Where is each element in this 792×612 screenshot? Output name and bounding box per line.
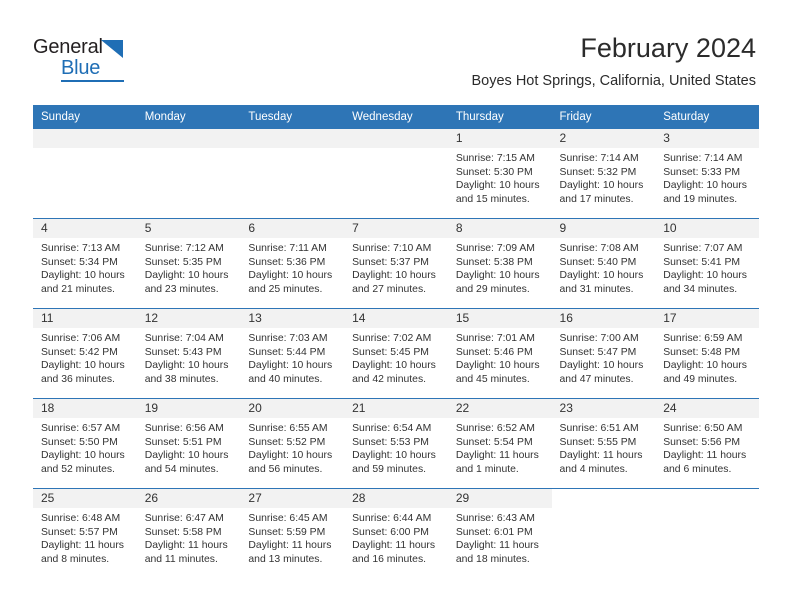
daylight-text-line2: and 1 minute. (456, 463, 546, 477)
day-details: Sunrise: 7:12 AMSunset: 5:35 PMDaylight:… (137, 238, 241, 296)
sunset-text: Sunset: 5:53 PM (352, 436, 442, 450)
daylight-text-line1: Daylight: 10 hours (41, 449, 131, 463)
calendar-day-cell[interactable]: 15Sunrise: 7:01 AMSunset: 5:46 PMDayligh… (448, 309, 552, 399)
day-number: 1 (448, 129, 552, 148)
day-number: 19 (137, 399, 241, 418)
daylight-text-line2: and 52 minutes. (41, 463, 131, 477)
weekday-header-monday: Monday (137, 105, 241, 129)
day-cell-inner: 9Sunrise: 7:08 AMSunset: 5:40 PMDaylight… (552, 219, 656, 308)
calendar-week-row: 1Sunrise: 7:15 AMSunset: 5:30 PMDaylight… (33, 129, 759, 219)
calendar-day-cell[interactable]: 12Sunrise: 7:04 AMSunset: 5:43 PMDayligh… (137, 309, 241, 399)
day-details: Sunrise: 6:43 AMSunset: 6:01 PMDaylight:… (448, 508, 552, 566)
daylight-text-line2: and 31 minutes. (560, 283, 650, 297)
sunset-text: Sunset: 5:37 PM (352, 256, 442, 270)
sunset-text: Sunset: 5:54 PM (456, 436, 546, 450)
day-details: Sunrise: 6:50 AMSunset: 5:56 PMDaylight:… (655, 418, 759, 476)
daylight-text-line1: Daylight: 10 hours (352, 449, 442, 463)
weekday-header-sunday: Sunday (33, 105, 137, 129)
day-number: 5 (137, 219, 241, 238)
sunset-text: Sunset: 6:00 PM (352, 526, 442, 540)
day-number: 28 (344, 489, 448, 508)
daylight-text-line1: Daylight: 10 hours (352, 269, 442, 283)
daylight-text-line2: and 36 minutes. (41, 373, 131, 387)
sunset-text: Sunset: 5:38 PM (456, 256, 546, 270)
sunset-text: Sunset: 5:46 PM (456, 346, 546, 360)
calendar-day-cell[interactable]: 10Sunrise: 7:07 AMSunset: 5:41 PMDayligh… (655, 219, 759, 309)
day-number: 2 (552, 129, 656, 148)
daylight-text-line2: and 6 minutes. (663, 463, 753, 477)
daylight-text-line1: Daylight: 10 hours (456, 359, 546, 373)
day-cell-inner: 26Sunrise: 6:47 AMSunset: 5:58 PMDayligh… (137, 489, 241, 578)
daylight-text-line2: and 56 minutes. (248, 463, 338, 477)
daylight-text-line2: and 38 minutes. (145, 373, 235, 387)
day-details: Sunrise: 7:09 AMSunset: 5:38 PMDaylight:… (448, 238, 552, 296)
daylight-text-line1: Daylight: 10 hours (145, 269, 235, 283)
sunrise-text: Sunrise: 6:45 AM (248, 512, 338, 526)
day-number: 6 (240, 219, 344, 238)
sunrise-text: Sunrise: 6:59 AM (663, 332, 753, 346)
calendar-grid: Sunday Monday Tuesday Wednesday Thursday… (33, 105, 759, 578)
sunrise-text: Sunrise: 7:09 AM (456, 242, 546, 256)
sunset-text: Sunset: 5:33 PM (663, 166, 753, 180)
day-details: Sunrise: 6:52 AMSunset: 5:54 PMDaylight:… (448, 418, 552, 476)
daylight-text-line1: Daylight: 10 hours (145, 359, 235, 373)
day-number: 8 (448, 219, 552, 238)
sunset-text: Sunset: 5:47 PM (560, 346, 650, 360)
daylight-text-line1: Daylight: 10 hours (41, 359, 131, 373)
sunset-text: Sunset: 5:32 PM (560, 166, 650, 180)
daylight-text-line1: Daylight: 11 hours (560, 449, 650, 463)
calendar-day-cell[interactable]: 27Sunrise: 6:45 AMSunset: 5:59 PMDayligh… (240, 489, 344, 579)
daylight-text-line2: and 59 minutes. (352, 463, 442, 477)
daylight-text-line2: and 29 minutes. (456, 283, 546, 297)
day-number: 9 (552, 219, 656, 238)
calendar-week-row: 25Sunrise: 6:48 AMSunset: 5:57 PMDayligh… (33, 489, 759, 579)
day-cell-inner: 10Sunrise: 7:07 AMSunset: 5:41 PMDayligh… (655, 219, 759, 308)
sunset-text: Sunset: 5:48 PM (663, 346, 753, 360)
daylight-text-line2: and 11 minutes. (145, 553, 235, 567)
day-details: Sunrise: 7:01 AMSunset: 5:46 PMDaylight:… (448, 328, 552, 386)
day-cell-inner (655, 489, 759, 578)
sunrise-text: Sunrise: 6:43 AM (456, 512, 546, 526)
day-number: 20 (240, 399, 344, 418)
day-cell-inner (552, 489, 656, 578)
day-cell-inner: 15Sunrise: 7:01 AMSunset: 5:46 PMDayligh… (448, 309, 552, 398)
day-details: Sunrise: 7:02 AMSunset: 5:45 PMDaylight:… (344, 328, 448, 386)
sunset-text: Sunset: 5:44 PM (248, 346, 338, 360)
sunrise-text: Sunrise: 6:50 AM (663, 422, 753, 436)
sunrise-text: Sunrise: 6:55 AM (248, 422, 338, 436)
day-number: 15 (448, 309, 552, 328)
day-number: 11 (33, 309, 137, 328)
sunrise-text: Sunrise: 7:15 AM (456, 152, 546, 166)
calendar-day-cell[interactable]: 5Sunrise: 7:12 AMSunset: 5:35 PMDaylight… (137, 219, 241, 309)
calendar-page: General Blue February 2024 Boyes Hot Spr… (0, 0, 792, 612)
day-details: Sunrise: 7:10 AMSunset: 5:37 PMDaylight:… (344, 238, 448, 296)
sunset-text: Sunset: 5:35 PM (145, 256, 235, 270)
calendar-day-cell[interactable]: 16Sunrise: 7:00 AMSunset: 5:47 PMDayligh… (552, 309, 656, 399)
day-cell-inner: 19Sunrise: 6:56 AMSunset: 5:51 PMDayligh… (137, 399, 241, 488)
day-number: 25 (33, 489, 137, 508)
day-details: Sunrise: 6:51 AMSunset: 5:55 PMDaylight:… (552, 418, 656, 476)
sunrise-text: Sunrise: 7:03 AM (248, 332, 338, 346)
sunrise-text: Sunrise: 6:54 AM (352, 422, 442, 436)
sunrise-text: Sunrise: 7:04 AM (145, 332, 235, 346)
day-number: 26 (137, 489, 241, 508)
sunset-text: Sunset: 5:59 PM (248, 526, 338, 540)
weekday-header-saturday: Saturday (655, 105, 759, 129)
day-cell-inner (137, 129, 241, 218)
sunrise-text: Sunrise: 7:08 AM (560, 242, 650, 256)
sunset-text: Sunset: 5:36 PM (248, 256, 338, 270)
day-number: 22 (448, 399, 552, 418)
calendar-day-cell[interactable]: 6Sunrise: 7:11 AMSunset: 5:36 PMDaylight… (240, 219, 344, 309)
day-details: Sunrise: 6:59 AMSunset: 5:48 PMDaylight:… (655, 328, 759, 386)
day-details: Sunrise: 7:15 AMSunset: 5:30 PMDaylight:… (448, 148, 552, 206)
daylight-text-line2: and 8 minutes. (41, 553, 131, 567)
day-details: Sunrise: 7:13 AMSunset: 5:34 PMDaylight:… (33, 238, 137, 296)
day-number: 10 (655, 219, 759, 238)
calendar-day-cell (344, 129, 448, 219)
day-details: Sunrise: 7:07 AMSunset: 5:41 PMDaylight:… (655, 238, 759, 296)
sunset-text: Sunset: 5:55 PM (560, 436, 650, 450)
day-cell-inner: 29Sunrise: 6:43 AMSunset: 6:01 PMDayligh… (448, 489, 552, 578)
calendar-day-cell[interactable]: 9Sunrise: 7:08 AMSunset: 5:40 PMDaylight… (552, 219, 656, 309)
daylight-text-line2: and 45 minutes. (456, 373, 546, 387)
calendar-day-cell[interactable]: 14Sunrise: 7:02 AMSunset: 5:45 PMDayligh… (344, 309, 448, 399)
daylight-text-line1: Daylight: 10 hours (663, 359, 753, 373)
calendar-day-cell[interactable]: 24Sunrise: 6:50 AMSunset: 5:56 PMDayligh… (655, 399, 759, 489)
sunset-text: Sunset: 5:34 PM (41, 256, 131, 270)
day-cell-inner: 14Sunrise: 7:02 AMSunset: 5:45 PMDayligh… (344, 309, 448, 398)
daylight-text-line1: Daylight: 10 hours (663, 179, 753, 193)
sunrise-text: Sunrise: 7:12 AM (145, 242, 235, 256)
calendar-day-cell[interactable]: 1Sunrise: 7:15 AMSunset: 5:30 PMDaylight… (448, 129, 552, 219)
day-cell-inner (240, 129, 344, 218)
day-number: 13 (240, 309, 344, 328)
day-cell-inner: 25Sunrise: 6:48 AMSunset: 5:57 PMDayligh… (33, 489, 137, 578)
sunset-text: Sunset: 5:57 PM (41, 526, 131, 540)
weekday-header-friday: Friday (552, 105, 656, 129)
daylight-text-line2: and 34 minutes. (663, 283, 753, 297)
day-number: 14 (344, 309, 448, 328)
sunrise-text: Sunrise: 6:47 AM (145, 512, 235, 526)
calendar-day-cell[interactable]: 4Sunrise: 7:13 AMSunset: 5:34 PMDaylight… (33, 219, 137, 309)
sunrise-text: Sunrise: 7:00 AM (560, 332, 650, 346)
daylight-text-line1: Daylight: 10 hours (560, 179, 650, 193)
calendar-day-cell[interactable]: 28Sunrise: 6:44 AMSunset: 6:00 PMDayligh… (344, 489, 448, 579)
day-details: Sunrise: 7:04 AMSunset: 5:43 PMDaylight:… (137, 328, 241, 386)
calendar-day-cell (33, 129, 137, 219)
day-cell-inner: 27Sunrise: 6:45 AMSunset: 5:59 PMDayligh… (240, 489, 344, 578)
day-cell-inner: 16Sunrise: 7:00 AMSunset: 5:47 PMDayligh… (552, 309, 656, 398)
sunrise-text: Sunrise: 7:10 AM (352, 242, 442, 256)
weekday-header-thursday: Thursday (448, 105, 552, 129)
day-number: 24 (655, 399, 759, 418)
sunrise-text: Sunrise: 6:51 AM (560, 422, 650, 436)
sunrise-text: Sunrise: 6:56 AM (145, 422, 235, 436)
day-details: Sunrise: 6:44 AMSunset: 6:00 PMDaylight:… (344, 508, 448, 566)
daylight-text-line2: and 18 minutes. (456, 553, 546, 567)
daylight-text-line1: Daylight: 10 hours (145, 449, 235, 463)
calendar-day-cell[interactable]: 19Sunrise: 6:56 AMSunset: 5:51 PMDayligh… (137, 399, 241, 489)
daylight-text-line2: and 16 minutes. (352, 553, 442, 567)
daylight-text-line2: and 49 minutes. (663, 373, 753, 387)
sunrise-text: Sunrise: 7:14 AM (663, 152, 753, 166)
daylight-text-line1: Daylight: 11 hours (248, 539, 338, 553)
daylight-text-line1: Daylight: 10 hours (456, 269, 546, 283)
daylight-text-line1: Daylight: 11 hours (456, 449, 546, 463)
day-cell-inner: 5Sunrise: 7:12 AMSunset: 5:35 PMDaylight… (137, 219, 241, 308)
triangle-icon (101, 40, 123, 58)
day-details: Sunrise: 7:14 AMSunset: 5:32 PMDaylight:… (552, 148, 656, 206)
day-details: Sunrise: 6:56 AMSunset: 5:51 PMDaylight:… (137, 418, 241, 476)
day-cell-inner: 11Sunrise: 7:06 AMSunset: 5:42 PMDayligh… (33, 309, 137, 398)
sunrise-text: Sunrise: 7:14 AM (560, 152, 650, 166)
daylight-text-line1: Daylight: 11 hours (456, 539, 546, 553)
calendar-day-cell (137, 129, 241, 219)
calendar-day-cell[interactable]: 3Sunrise: 7:14 AMSunset: 5:33 PMDaylight… (655, 129, 759, 219)
day-details: Sunrise: 7:06 AMSunset: 5:42 PMDaylight:… (33, 328, 137, 386)
day-number: 29 (448, 489, 552, 508)
sunset-text: Sunset: 5:52 PM (248, 436, 338, 450)
calendar-day-cell (240, 129, 344, 219)
sunrise-text: Sunrise: 7:02 AM (352, 332, 442, 346)
sunset-text: Sunset: 5:42 PM (41, 346, 131, 360)
daylight-text-line2: and 47 minutes. (560, 373, 650, 387)
day-details: Sunrise: 6:57 AMSunset: 5:50 PMDaylight:… (33, 418, 137, 476)
sunrise-text: Sunrise: 6:48 AM (41, 512, 131, 526)
logo-text-general: General (33, 36, 103, 59)
day-cell-inner: 13Sunrise: 7:03 AMSunset: 5:44 PMDayligh… (240, 309, 344, 398)
calendar-day-cell[interactable]: 29Sunrise: 6:43 AMSunset: 6:01 PMDayligh… (448, 489, 552, 579)
sunset-text: Sunset: 6:01 PM (456, 526, 546, 540)
day-number (344, 129, 448, 148)
day-number: 27 (240, 489, 344, 508)
day-details: Sunrise: 7:14 AMSunset: 5:33 PMDaylight:… (655, 148, 759, 206)
daylight-text-line2: and 25 minutes. (248, 283, 338, 297)
day-number: 3 (655, 129, 759, 148)
day-number: 18 (33, 399, 137, 418)
day-details: Sunrise: 6:54 AMSunset: 5:53 PMDaylight:… (344, 418, 448, 476)
daylight-text-line1: Daylight: 11 hours (352, 539, 442, 553)
day-details: Sunrise: 7:03 AMSunset: 5:44 PMDaylight:… (240, 328, 344, 386)
sunrise-text: Sunrise: 6:52 AM (456, 422, 546, 436)
daylight-text-line2: and 40 minutes. (248, 373, 338, 387)
calendar-day-cell[interactable]: 13Sunrise: 7:03 AMSunset: 5:44 PMDayligh… (240, 309, 344, 399)
daylight-text-line2: and 15 minutes. (456, 193, 546, 207)
day-cell-inner: 20Sunrise: 6:55 AMSunset: 5:52 PMDayligh… (240, 399, 344, 488)
day-number: 16 (552, 309, 656, 328)
day-cell-inner (344, 129, 448, 218)
calendar-day-cell[interactable]: 22Sunrise: 6:52 AMSunset: 5:54 PMDayligh… (448, 399, 552, 489)
sunrise-text: Sunrise: 7:13 AM (41, 242, 131, 256)
day-cell-inner: 24Sunrise: 6:50 AMSunset: 5:56 PMDayligh… (655, 399, 759, 488)
calendar-day-cell (655, 489, 759, 579)
daylight-text-line1: Daylight: 10 hours (248, 359, 338, 373)
sunset-text: Sunset: 5:30 PM (456, 166, 546, 180)
sunset-text: Sunset: 5:51 PM (145, 436, 235, 450)
daylight-text-line2: and 17 minutes. (560, 193, 650, 207)
weekday-header-wednesday: Wednesday (344, 105, 448, 129)
daylight-text-line1: Daylight: 10 hours (248, 449, 338, 463)
day-cell-inner: 22Sunrise: 6:52 AMSunset: 5:54 PMDayligh… (448, 399, 552, 488)
day-cell-inner: 12Sunrise: 7:04 AMSunset: 5:43 PMDayligh… (137, 309, 241, 398)
daylight-text-line1: Daylight: 10 hours (248, 269, 338, 283)
calendar-day-cell (552, 489, 656, 579)
sunrise-text: Sunrise: 6:44 AM (352, 512, 442, 526)
day-number: 21 (344, 399, 448, 418)
calendar-day-cell[interactable]: 23Sunrise: 6:51 AMSunset: 5:55 PMDayligh… (552, 399, 656, 489)
calendar-day-cell[interactable]: 17Sunrise: 6:59 AMSunset: 5:48 PMDayligh… (655, 309, 759, 399)
daylight-text-line1: Daylight: 10 hours (663, 269, 753, 283)
sunset-text: Sunset: 5:41 PM (663, 256, 753, 270)
calendar-body: 1Sunrise: 7:15 AMSunset: 5:30 PMDaylight… (33, 129, 759, 578)
page-header: General Blue February 2024 Boyes Hot Spr… (0, 0, 792, 104)
day-details: Sunrise: 6:45 AMSunset: 5:59 PMDaylight:… (240, 508, 344, 566)
day-cell-inner: 6Sunrise: 7:11 AMSunset: 5:36 PMDaylight… (240, 219, 344, 308)
sunrise-text: Sunrise: 6:57 AM (41, 422, 131, 436)
logo-text-blue: Blue (61, 57, 100, 80)
day-number: 17 (655, 309, 759, 328)
calendar-day-cell[interactable]: 20Sunrise: 6:55 AMSunset: 5:52 PMDayligh… (240, 399, 344, 489)
general-blue-logo: General Blue (33, 36, 143, 82)
day-number: 12 (137, 309, 241, 328)
daylight-text-line2: and 54 minutes. (145, 463, 235, 477)
daylight-text-line1: Daylight: 10 hours (41, 269, 131, 283)
day-cell-inner: 21Sunrise: 6:54 AMSunset: 5:53 PMDayligh… (344, 399, 448, 488)
sunset-text: Sunset: 5:50 PM (41, 436, 131, 450)
calendar-day-cell[interactable]: 2Sunrise: 7:14 AMSunset: 5:32 PMDaylight… (552, 129, 656, 219)
day-cell-inner: 8Sunrise: 7:09 AMSunset: 5:38 PMDaylight… (448, 219, 552, 308)
calendar-header-row: Sunday Monday Tuesday Wednesday Thursday… (33, 105, 759, 129)
calendar-day-cell[interactable]: 18Sunrise: 6:57 AMSunset: 5:50 PMDayligh… (33, 399, 137, 489)
day-number: 23 (552, 399, 656, 418)
day-number: 7 (344, 219, 448, 238)
day-details: Sunrise: 7:08 AMSunset: 5:40 PMDaylight:… (552, 238, 656, 296)
day-cell-inner: 7Sunrise: 7:10 AMSunset: 5:37 PMDaylight… (344, 219, 448, 308)
calendar-day-cell[interactable]: 26Sunrise: 6:47 AMSunset: 5:58 PMDayligh… (137, 489, 241, 579)
daylight-text-line1: Daylight: 10 hours (560, 269, 650, 283)
daylight-text-line1: Daylight: 11 hours (663, 449, 753, 463)
calendar-day-cell[interactable]: 21Sunrise: 6:54 AMSunset: 5:53 PMDayligh… (344, 399, 448, 489)
day-cell-inner: 23Sunrise: 6:51 AMSunset: 5:55 PMDayligh… (552, 399, 656, 488)
day-cell-inner: 17Sunrise: 6:59 AMSunset: 5:48 PMDayligh… (655, 309, 759, 398)
day-number (240, 129, 344, 148)
daylight-text-line1: Daylight: 10 hours (456, 179, 546, 193)
sunrise-text: Sunrise: 7:01 AM (456, 332, 546, 346)
daylight-text-line1: Daylight: 10 hours (560, 359, 650, 373)
calendar-day-cell[interactable]: 7Sunrise: 7:10 AMSunset: 5:37 PMDaylight… (344, 219, 448, 309)
day-details: Sunrise: 7:11 AMSunset: 5:36 PMDaylight:… (240, 238, 344, 296)
sunset-text: Sunset: 5:56 PM (663, 436, 753, 450)
calendar-week-row: 11Sunrise: 7:06 AMSunset: 5:42 PMDayligh… (33, 309, 759, 399)
day-number (137, 129, 241, 148)
daylight-text-line2: and 21 minutes. (41, 283, 131, 297)
sunset-text: Sunset: 5:58 PM (145, 526, 235, 540)
daylight-text-line1: Daylight: 10 hours (352, 359, 442, 373)
day-cell-inner: 3Sunrise: 7:14 AMSunset: 5:33 PMDaylight… (655, 129, 759, 218)
location-subtitle: Boyes Hot Springs, California, United St… (472, 73, 757, 90)
calendar-week-row: 4Sunrise: 7:13 AMSunset: 5:34 PMDaylight… (33, 219, 759, 309)
sunset-text: Sunset: 5:43 PM (145, 346, 235, 360)
daylight-text-line2: and 23 minutes. (145, 283, 235, 297)
day-cell-inner: 18Sunrise: 6:57 AMSunset: 5:50 PMDayligh… (33, 399, 137, 488)
day-cell-inner: 2Sunrise: 7:14 AMSunset: 5:32 PMDaylight… (552, 129, 656, 218)
weekday-header-tuesday: Tuesday (240, 105, 344, 129)
page-title: February 2024 (472, 32, 757, 64)
logo-underline (61, 80, 124, 82)
daylight-text-line2: and 13 minutes. (248, 553, 338, 567)
sunrise-text: Sunrise: 7:11 AM (248, 242, 338, 256)
calendar-day-cell[interactable]: 8Sunrise: 7:09 AMSunset: 5:38 PMDaylight… (448, 219, 552, 309)
calendar-day-cell[interactable]: 25Sunrise: 6:48 AMSunset: 5:57 PMDayligh… (33, 489, 137, 579)
daylight-text-line2: and 42 minutes. (352, 373, 442, 387)
daylight-text-line1: Daylight: 11 hours (41, 539, 131, 553)
sunrise-text: Sunrise: 7:07 AM (663, 242, 753, 256)
day-cell-inner: 1Sunrise: 7:15 AMSunset: 5:30 PMDaylight… (448, 129, 552, 218)
sunset-text: Sunset: 5:45 PM (352, 346, 442, 360)
day-details: Sunrise: 6:48 AMSunset: 5:57 PMDaylight:… (33, 508, 137, 566)
sunset-text: Sunset: 5:40 PM (560, 256, 650, 270)
calendar-day-cell[interactable]: 11Sunrise: 7:06 AMSunset: 5:42 PMDayligh… (33, 309, 137, 399)
daylight-text-line1: Daylight: 11 hours (145, 539, 235, 553)
daylight-text-line2: and 4 minutes. (560, 463, 650, 477)
daylight-text-line2: and 19 minutes. (663, 193, 753, 207)
day-details: Sunrise: 6:47 AMSunset: 5:58 PMDaylight:… (137, 508, 241, 566)
day-details: Sunrise: 6:55 AMSunset: 5:52 PMDaylight:… (240, 418, 344, 476)
calendar-week-row: 18Sunrise: 6:57 AMSunset: 5:50 PMDayligh… (33, 399, 759, 489)
day-number: 4 (33, 219, 137, 238)
day-cell-inner: 4Sunrise: 7:13 AMSunset: 5:34 PMDaylight… (33, 219, 137, 308)
daylight-text-line2: and 27 minutes. (352, 283, 442, 297)
title-block: February 2024 Boyes Hot Springs, Califor… (472, 32, 757, 90)
day-cell-inner: 28Sunrise: 6:44 AMSunset: 6:00 PMDayligh… (344, 489, 448, 578)
day-cell-inner (33, 129, 137, 218)
sunrise-text: Sunrise: 7:06 AM (41, 332, 131, 346)
day-details: Sunrise: 7:00 AMSunset: 5:47 PMDaylight:… (552, 328, 656, 386)
day-number (33, 129, 137, 148)
